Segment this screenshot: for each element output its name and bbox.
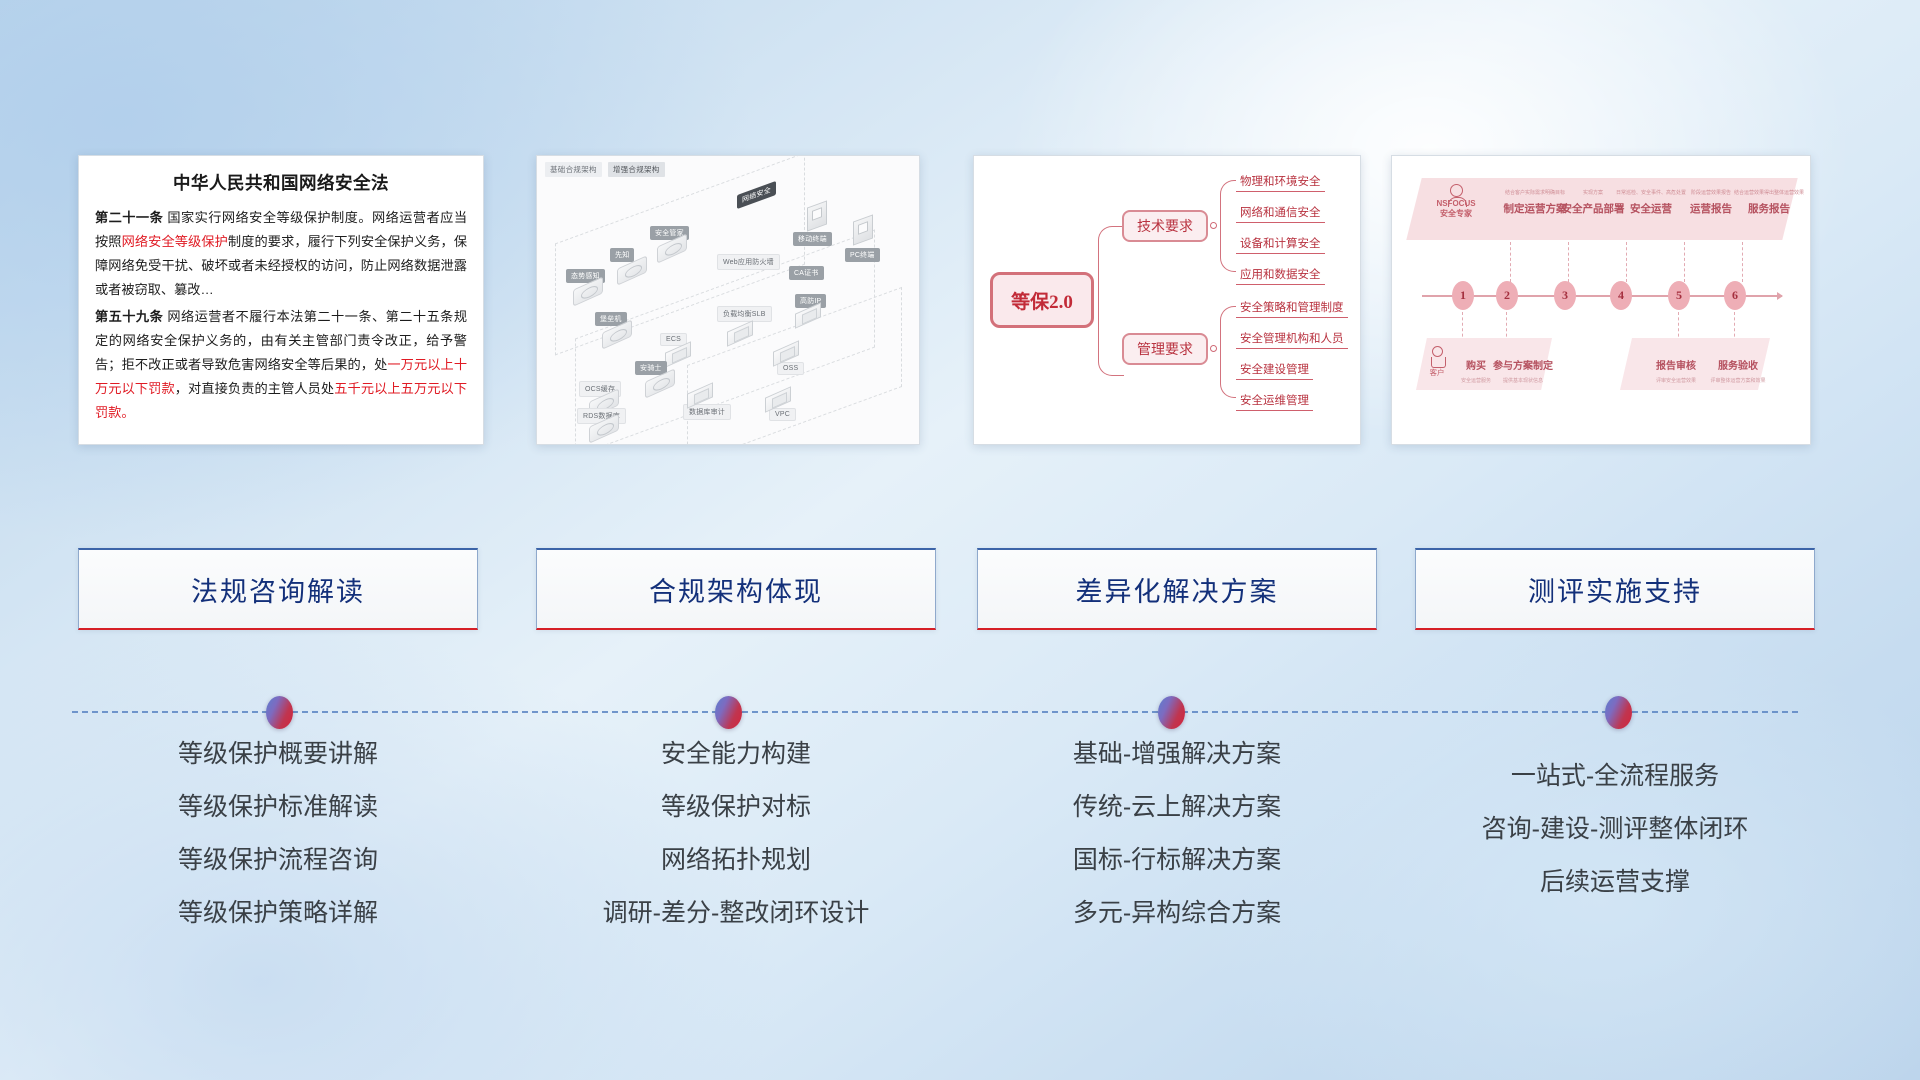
roadmap-number-4: 4 bbox=[1610, 281, 1632, 310]
roadmap-customer-item-3-sub: 评审安全运营效果 bbox=[1646, 377, 1706, 384]
mindmap-leaf-physical-env: 物理和环境安全 bbox=[1236, 173, 1325, 192]
expert-person-icon bbox=[1450, 184, 1463, 197]
roadmap-number-6: 6 bbox=[1724, 281, 1746, 310]
mindmap-root-node: 等保2.0 bbox=[990, 272, 1094, 328]
preview-card-architecture[interactable]: 基础合规架构 增强合规架构 网络安全 安全管家 先知 态势感知 堡垒机 ECS … bbox=[536, 155, 920, 445]
law-article-21: 第二十一条 国家实行网络安全等级保护制度。网络运营者应当按照网络安全等级保护制度… bbox=[95, 206, 467, 302]
architecture-node-pc-terminal: PC终端 bbox=[845, 248, 880, 262]
list-item: 调研-差分-整改闭环设计 bbox=[536, 901, 936, 926]
preview-card-row: 中华人民共和国网络安全法 第二十一条 国家实行网络安全等级保护制度。网络运营者应… bbox=[0, 155, 1920, 445]
architecture-node-slb: 负载均衡SLB bbox=[717, 306, 772, 322]
mindmap-branch-technical: 技术要求 bbox=[1122, 210, 1208, 242]
law-title: 中华人民共和国网络安全法 bbox=[95, 170, 467, 195]
roadmap-tick-lower-2 bbox=[1506, 312, 1507, 342]
roadmap-customer-label: 客户 bbox=[1430, 368, 1445, 377]
detail-list-differentiated-solution: 基础-增强解决方案 传统-云上解决方案 国标-行标解决方案 多元-异构综合方案 bbox=[977, 742, 1377, 954]
roadmap-customer-item-2-sub: 提供基本现状信息 bbox=[1488, 377, 1558, 384]
roadmap-step-5-sub: 结合运营效果得出整体运营效果 bbox=[1726, 190, 1811, 196]
section-title-differentiated-solution[interactable]: 差异化解决方案 bbox=[977, 548, 1377, 630]
architecture-node-oss: OSS bbox=[777, 362, 804, 375]
architecture-tab-basic[interactable]: 基础合规架构 bbox=[545, 162, 602, 177]
law-article-59-text-b: ，对直接负责的主管人员处 bbox=[175, 381, 334, 396]
roadmap-customer-badge: 客户 bbox=[1422, 346, 1452, 378]
roadmap-banner: NSFOCUS 安全专家 结合客户实际需求明确目标 制定运营方案 实现方案 安全… bbox=[1406, 178, 1797, 240]
preview-card-roadmap[interactable]: NSFOCUS 安全专家 结合客户实际需求明确目标 制定运营方案 实现方案 安全… bbox=[1391, 155, 1811, 445]
roadmap-customer-item-3-title: 报告审核 bbox=[1656, 361, 1696, 372]
mindmap-leaf-network-comm: 网络和通信安全 bbox=[1236, 204, 1325, 223]
mindmap-leaf-app-data: 应用和数据安全 bbox=[1236, 266, 1325, 285]
roadmap-number-3: 3 bbox=[1554, 281, 1576, 310]
list-item: 基础-增强解决方案 bbox=[977, 742, 1377, 767]
detail-list-regulation-consulting: 等级保护概要讲解 等级保护标准解读 等级保护流程咨询 等级保护策略详解 bbox=[78, 742, 478, 954]
list-item: 国标-行标解决方案 bbox=[977, 848, 1377, 873]
mindmap-leaf-operation-mgmt: 安全运维管理 bbox=[1236, 392, 1313, 411]
architecture-icon-mobile-terminal bbox=[807, 200, 827, 231]
list-item: 多元-异构综合方案 bbox=[977, 901, 1377, 926]
mindmap-leaf-device-compute: 设备和计算安全 bbox=[1236, 235, 1325, 254]
list-item: 后续运营支撑 bbox=[1415, 870, 1815, 895]
customer-person-icon bbox=[1432, 346, 1443, 357]
roadmap-expert-role: 安全专家 bbox=[1440, 209, 1472, 218]
roadmap-step-5: 结合运营效果得出整体运营效果 服务报告 bbox=[1726, 190, 1811, 217]
architecture-tab-enhanced[interactable]: 增强合规架构 bbox=[608, 162, 665, 177]
detail-list-assessment-support: 一站式-全流程服务 咨询-建设-测评整体闭环 后续运营支撑 bbox=[1415, 764, 1815, 923]
roadmap-tick-3 bbox=[1626, 242, 1627, 282]
roadmap-number-2: 2 bbox=[1496, 281, 1518, 310]
roadmap-step-5-title: 服务报告 bbox=[1748, 203, 1790, 215]
architecture-node-waf: Web应用防火墙 bbox=[717, 254, 780, 270]
roadmap-customer-item-1-title: 购买 bbox=[1466, 361, 1486, 372]
roadmap-customer-item-4: 服务验收 评审整体运营方案和效果 bbox=[1708, 356, 1768, 384]
mindmap-branch-technical-dot bbox=[1210, 222, 1217, 229]
roadmap-expert-badge: NSFOCUS 安全专家 bbox=[1428, 184, 1484, 220]
section-title-assessment-support[interactable]: 测评实施支持 bbox=[1415, 548, 1815, 630]
roadmap-tick-lower-5 bbox=[1678, 312, 1679, 342]
mindmap-diagram: 等保2.0 技术要求 物理和环境安全 网络和通信安全 设备和计算安全 应用和数据… bbox=[974, 156, 1360, 444]
timeline bbox=[72, 692, 1798, 732]
roadmap-tick-lower-1 bbox=[1462, 312, 1463, 342]
law-article-21-highlight: 网络安全等级保护 bbox=[122, 234, 228, 249]
roadmap-number-1: 1 bbox=[1452, 281, 1474, 310]
architecture-diagram: 基础合规架构 增强合规架构 网络安全 安全管家 先知 态势感知 堡垒机 ECS … bbox=[537, 156, 919, 444]
list-item: 等级保护标准解读 bbox=[78, 795, 478, 820]
list-item: 等级保护策略详解 bbox=[78, 901, 478, 926]
law-article-21-label: 第二十一条 bbox=[95, 210, 163, 225]
roadmap-tick-lower-6 bbox=[1734, 312, 1735, 342]
roadmap-customer-item-4-title: 服务验收 bbox=[1718, 361, 1758, 372]
mindmap-branch-technical-curve bbox=[1220, 180, 1236, 272]
section-title-regulation-consulting[interactable]: 法规咨询解读 bbox=[78, 548, 478, 630]
list-item: 等级保护概要讲解 bbox=[78, 742, 478, 767]
preview-card-law[interactable]: 中华人民共和国网络安全法 第二十一条 国家实行网络安全等级保护制度。网络运营者应… bbox=[78, 155, 484, 445]
list-item: 等级保护流程咨询 bbox=[78, 848, 478, 873]
architecture-node-mobile-terminal: 移动终端 bbox=[793, 232, 832, 246]
roadmap-diagram: NSFOCUS 安全专家 结合客户实际需求明确目标 制定运营方案 实现方案 安全… bbox=[1392, 156, 1810, 444]
roadmap-customer-item-2: 参与方案制定 提供基本现状信息 bbox=[1488, 356, 1558, 384]
roadmap-tick-2 bbox=[1568, 242, 1569, 282]
architecture-node-xianzhi: 先知 bbox=[610, 248, 634, 262]
law-article-59: 第五十九条 网络运营者不履行本法第二十一条、第二十五条规定的网络安全保护义务的，… bbox=[95, 305, 467, 425]
roadmap-tick-4 bbox=[1684, 242, 1685, 282]
timeline-marker-3[interactable] bbox=[1158, 696, 1185, 729]
roadmap-tick-5 bbox=[1742, 242, 1743, 282]
list-item: 安全能力构建 bbox=[536, 742, 936, 767]
section-title-compliance-architecture[interactable]: 合规架构体现 bbox=[536, 548, 936, 630]
roadmap-step-3-title: 安全运营 bbox=[1630, 203, 1672, 215]
law-article-59-label: 第五十九条 bbox=[95, 309, 163, 324]
timeline-dashed-line bbox=[72, 711, 1798, 713]
mindmap-branch-management: 管理要求 bbox=[1122, 333, 1208, 365]
roadmap-customer-item-3: 报告审核 评审安全运营效果 bbox=[1646, 356, 1706, 384]
roadmap-customer-item-4-sub: 评审整体运营方案和效果 bbox=[1708, 377, 1768, 384]
timeline-marker-4[interactable] bbox=[1605, 696, 1632, 729]
mindmap-branch-management-dot bbox=[1210, 345, 1217, 352]
timeline-marker-1[interactable] bbox=[266, 696, 293, 729]
roadmap-customer-item-2-title: 参与方案制定 bbox=[1493, 361, 1553, 372]
list-item: 等级保护对标 bbox=[536, 795, 936, 820]
architecture-tabs: 基础合规架构 增强合规架构 bbox=[545, 162, 665, 177]
preview-card-mindmap[interactable]: 等保2.0 技术要求 物理和环境安全 网络和通信安全 设备和计算安全 应用和数据… bbox=[973, 155, 1361, 445]
law-document: 中华人民共和国网络安全法 第二十一条 国家实行网络安全等级保护制度。网络运营者应… bbox=[79, 156, 483, 435]
mindmap-root-curve bbox=[1098, 226, 1124, 376]
detail-list-compliance-architecture: 安全能力构建 等级保护对标 网络拓扑规划 调研-差分-整改闭环设计 bbox=[536, 742, 936, 954]
roadmap-number-5: 5 bbox=[1668, 281, 1690, 310]
mindmap-leaf-construction-mgmt: 安全建设管理 bbox=[1236, 361, 1313, 380]
architecture-node-vpc: VPC bbox=[769, 408, 796, 421]
list-item: 咨询-建设-测评整体闭环 bbox=[1415, 817, 1815, 842]
list-item: 传统-云上解决方案 bbox=[977, 795, 1377, 820]
list-item: 网络拓扑规划 bbox=[536, 848, 936, 873]
mindmap-branch-management-curve bbox=[1220, 306, 1236, 398]
roadmap-tick-1 bbox=[1510, 242, 1511, 282]
timeline-marker-2[interactable] bbox=[715, 696, 742, 729]
mindmap-leaf-security-policy: 安全策略和管理制度 bbox=[1236, 299, 1348, 318]
architecture-node-ca-cert: CA证书 bbox=[789, 266, 824, 280]
list-item: 一站式-全流程服务 bbox=[1415, 764, 1815, 789]
mindmap-leaf-org-personnel: 安全管理机构和人员 bbox=[1236, 330, 1348, 349]
